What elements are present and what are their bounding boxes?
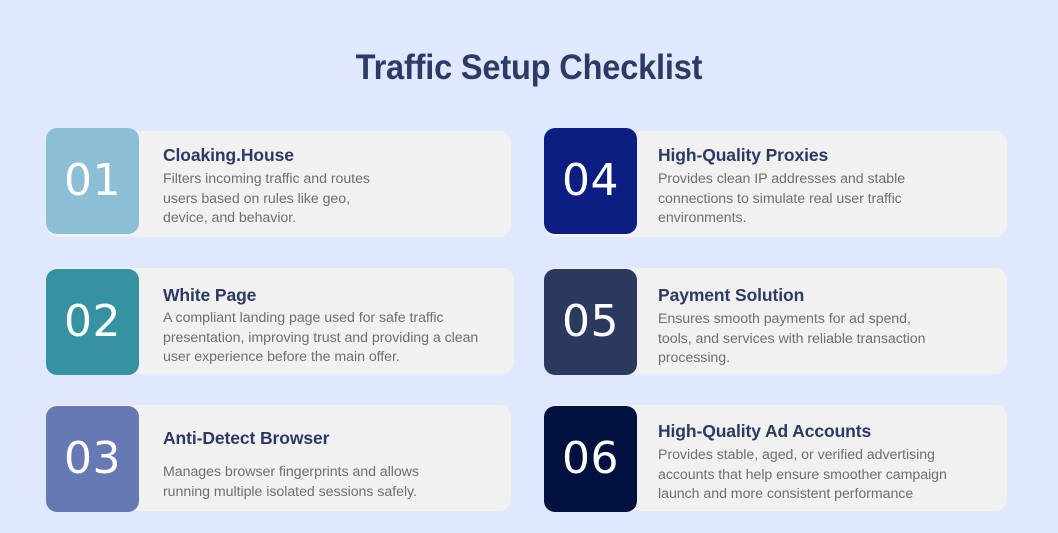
- card-number-badge: 05: [544, 269, 637, 375]
- card-description: Ensures smooth payments for ad spend, to…: [658, 310, 940, 369]
- infographic-page: Traffic Setup Checklist 01 Cloaking.Hous…: [0, 0, 1058, 533]
- card-number-badge: 02: [46, 269, 139, 375]
- card-text-block: High-Quality Proxies Provides clean IP a…: [658, 144, 946, 229]
- card-number: 06: [562, 437, 619, 481]
- card-title: Payment Solution: [658, 284, 940, 306]
- card-text-block: Cloaking.House Filters incoming traffic …: [163, 144, 395, 229]
- card-number-badge: 04: [544, 128, 637, 234]
- card-number-badge: 03: [46, 406, 139, 512]
- card-title: Cloaking.House: [163, 144, 395, 166]
- card-number: 03: [64, 437, 121, 481]
- card-text-block: High-Quality Ad Accounts Provides stable…: [658, 420, 988, 505]
- card-description: Provides clean IP addresses and stable c…: [658, 170, 946, 229]
- card-number: 01: [64, 159, 121, 203]
- card-number: 05: [562, 300, 619, 344]
- card-title: High-Quality Ad Accounts: [658, 420, 988, 442]
- card-number-badge: 06: [544, 406, 637, 512]
- card-text-block: Payment Solution Ensures smooth payments…: [658, 284, 940, 369]
- card-title: White Page: [163, 284, 488, 306]
- card-text-block: Anti-Detect Browser Manages browser fing…: [163, 427, 463, 502]
- card-description: Provides stable, aged, or verified adver…: [658, 446, 988, 505]
- card-number: 02: [64, 300, 121, 344]
- card-number-badge: 01: [46, 128, 139, 234]
- card-text-block: White Page A compliant landing page used…: [163, 284, 488, 368]
- card-description: Filters incoming traffic and routes user…: [163, 170, 395, 229]
- card-description: A compliant landing page used for safe t…: [163, 309, 488, 368]
- card-description: Manages browser fingerprints and allows …: [163, 463, 463, 502]
- card-title: High-Quality Proxies: [658, 144, 946, 166]
- card-number: 04: [562, 159, 619, 203]
- card-title: Anti-Detect Browser: [163, 427, 463, 449]
- page-title: Traffic Setup Checklist: [37, 46, 1021, 90]
